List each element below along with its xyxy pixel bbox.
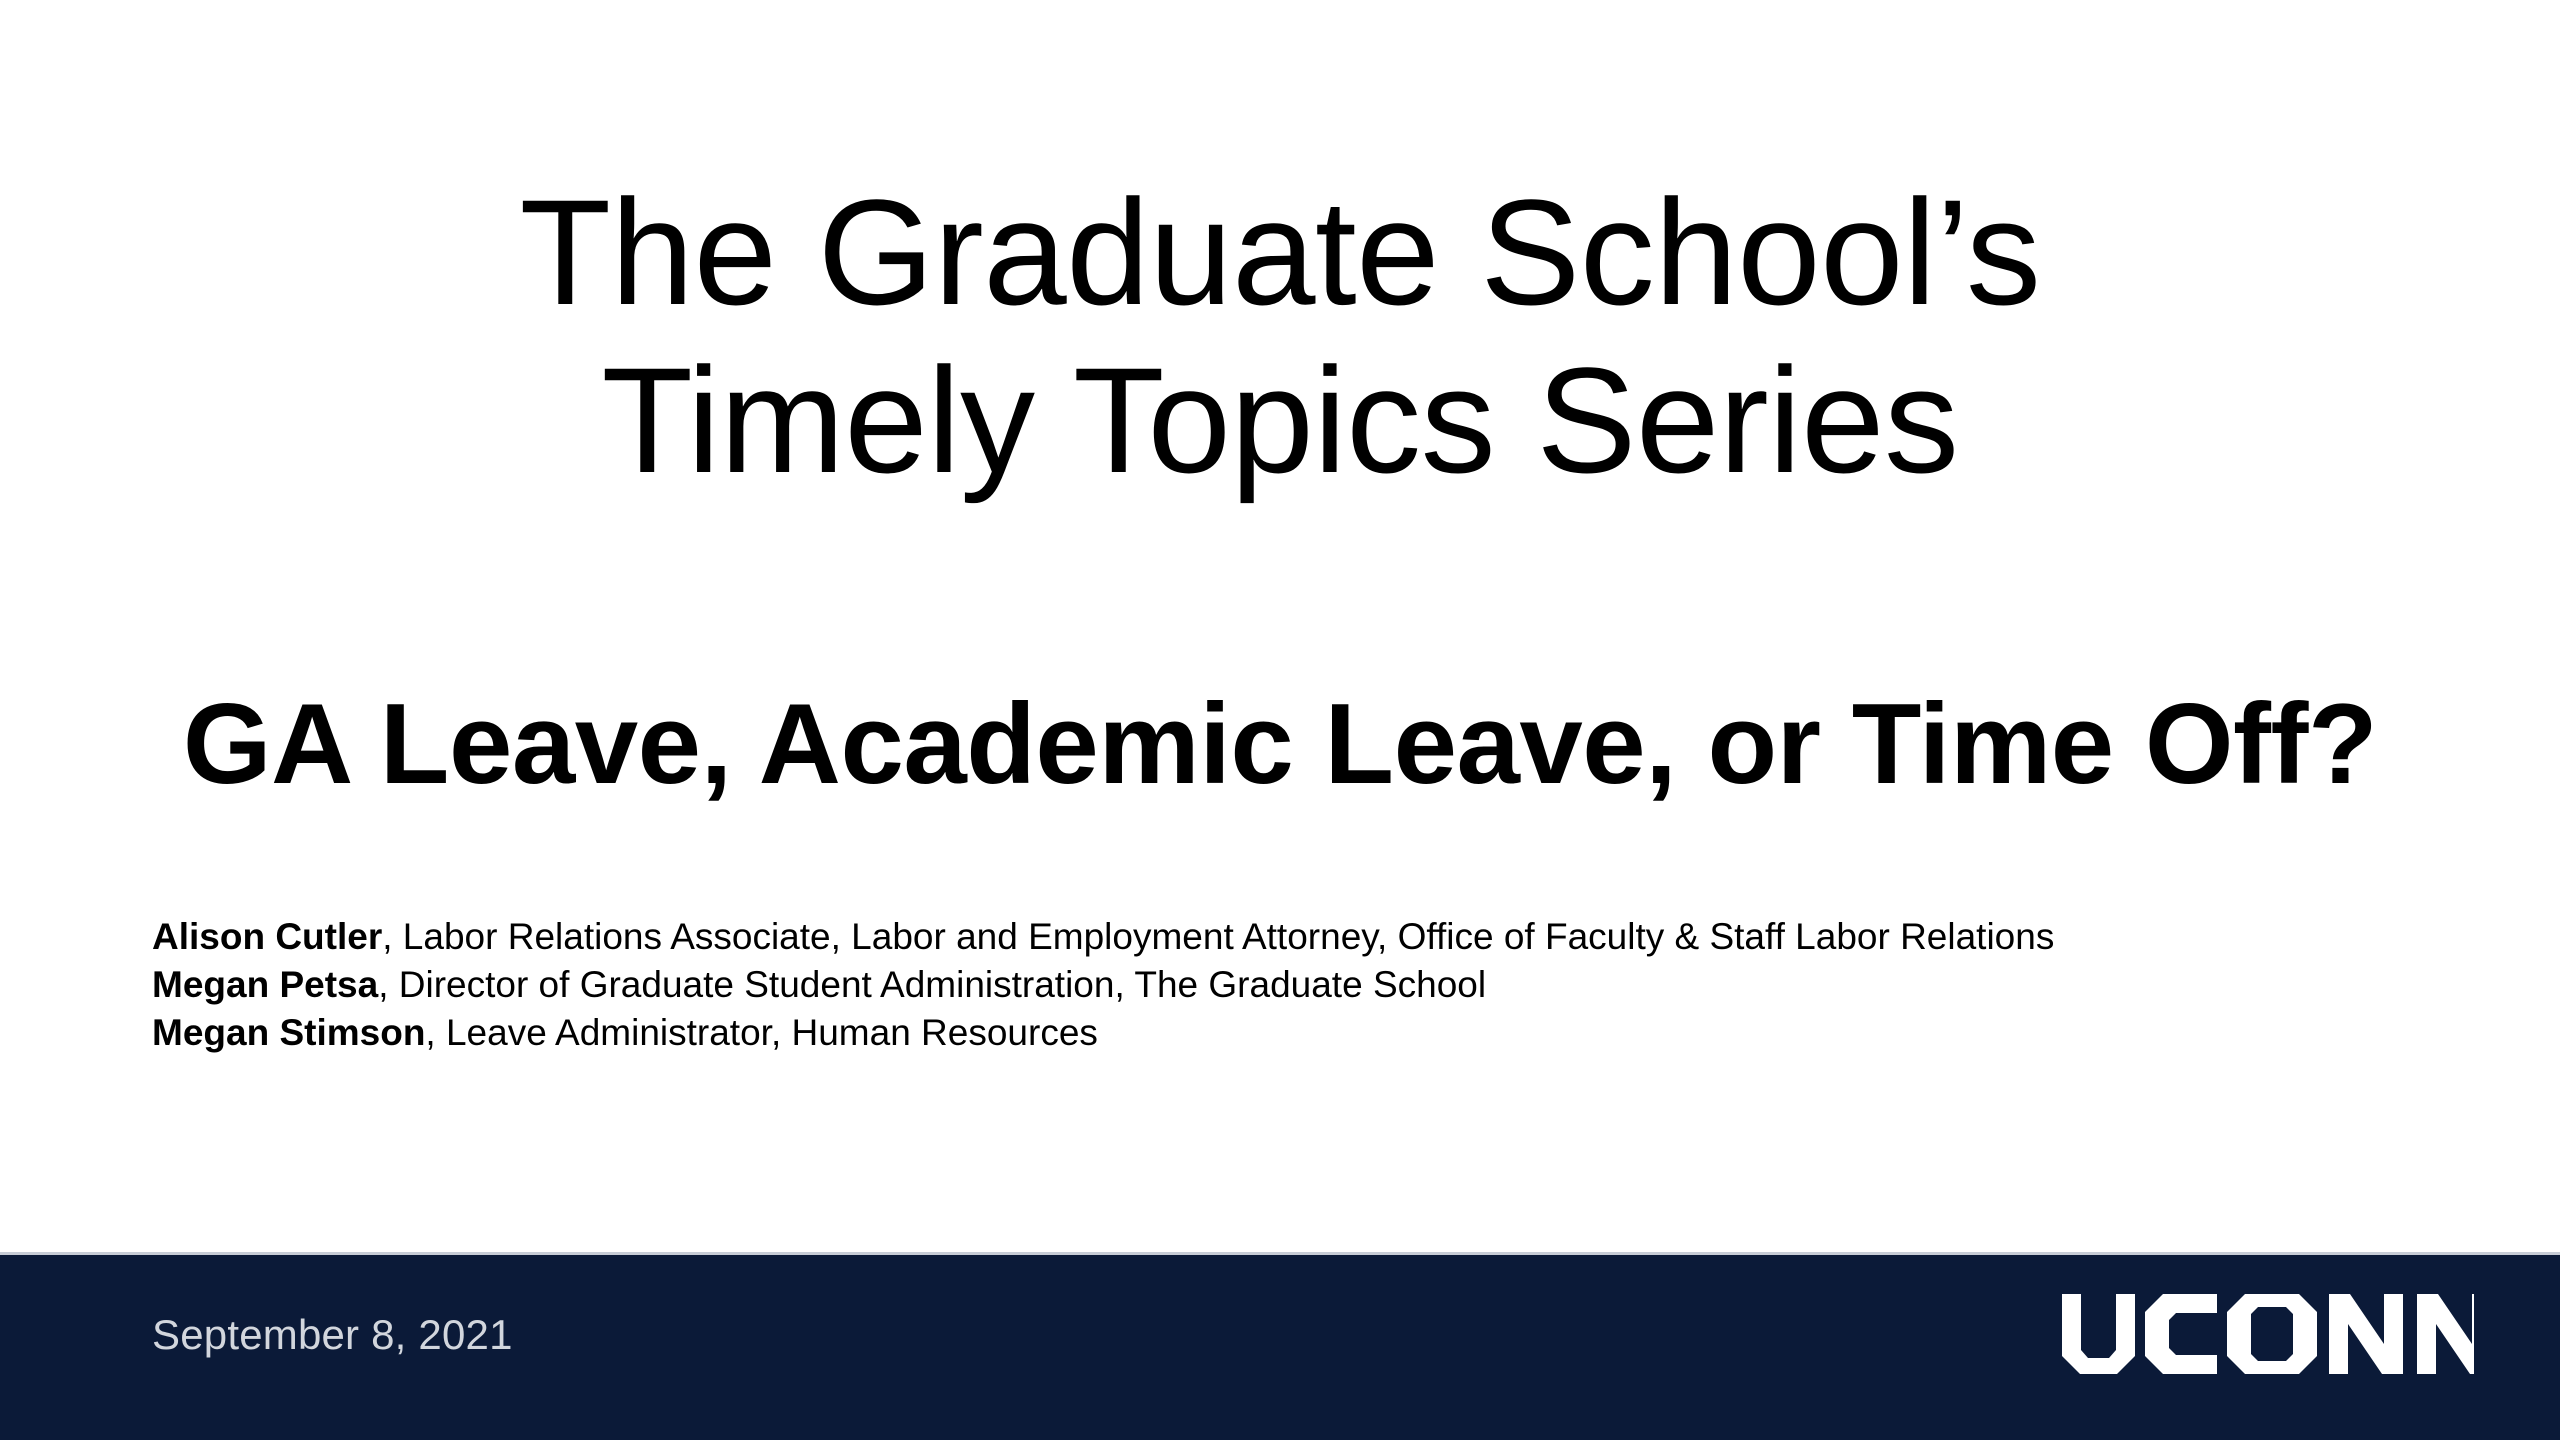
page-title: The Graduate School’s Timely Topics Seri… <box>0 168 2560 504</box>
presenter-name: Alison Cutler <box>152 916 382 957</box>
presentation-slide: The Graduate School’s Timely Topics Seri… <box>0 0 2560 1440</box>
title-block: The Graduate School’s Timely Topics Seri… <box>0 168 2560 504</box>
presenter-role: , Director of Graduate Student Administr… <box>378 964 1486 1005</box>
list-item: Megan Stimson, Leave Administrator, Huma… <box>152 1009 2452 1057</box>
list-item: Megan Petsa, Director of Graduate Studen… <box>152 961 2452 1009</box>
footer-date: September 8, 2021 <box>152 1310 513 1360</box>
list-item: Alison Cutler, Labor Relations Associate… <box>152 913 2452 961</box>
presenter-role: , Labor Relations Associate, Labor and E… <box>382 916 2054 957</box>
presenter-role: , Leave Administrator, Human Resources <box>425 1012 1098 1053</box>
presenter-name: Megan Petsa <box>152 964 378 1005</box>
subtitle-block: GA Leave, Academic Leave, or Time Off? <box>0 686 2560 804</box>
slide-subtitle: GA Leave, Academic Leave, or Time Off? <box>0 686 2560 804</box>
presenter-name: Megan Stimson <box>152 1012 425 1053</box>
presenter-list: Alison Cutler, Labor Relations Associate… <box>152 913 2452 1057</box>
uconn-logo <box>2062 1294 2474 1374</box>
